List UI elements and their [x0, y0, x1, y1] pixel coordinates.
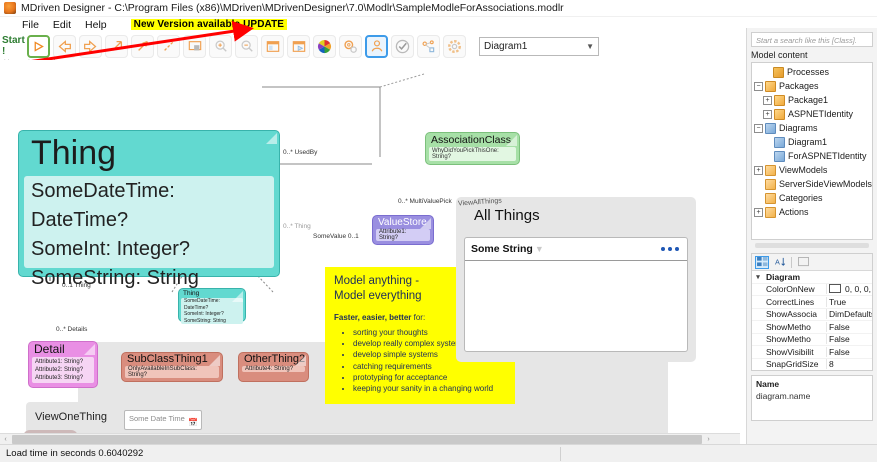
window-export-icon [292, 40, 306, 53]
property-key: ShowAssocia [764, 309, 826, 319]
color-wheel-button[interactable] [313, 35, 336, 58]
dot [675, 247, 679, 251]
property-key: SnapGridSize [764, 359, 826, 369]
zoom-out-button[interactable] [235, 35, 258, 58]
dot [661, 247, 665, 251]
run-play-icon [32, 40, 45, 53]
property-value[interactable]: True [826, 297, 872, 307]
fold-corner-icon [209, 355, 220, 366]
tree-item-label: Diagram1 [788, 137, 827, 147]
diagram-icon [765, 123, 776, 134]
alphabetical-sort-button[interactable]: A [773, 256, 787, 269]
edge-label-thing-assoc: 0..* Thing [283, 223, 311, 230]
window-button[interactable] [261, 35, 284, 58]
class-node-subclassthing1[interactable]: SubClassThing1 OnlyAvailableInSubClass: … [121, 352, 223, 382]
viewmodel-icon [765, 193, 776, 204]
viewmodel-icon [765, 207, 776, 218]
tree-item-serversideviewmodels[interactable]: ServerSideViewModels [752, 177, 872, 191]
categorized-view-button[interactable] [755, 256, 769, 269]
property-row-showmethods-2[interactable]: ShowMetho False [752, 334, 872, 347]
class-node-subclassthing1-attributes: OnlyAvailableInSubClass: String? [125, 366, 219, 378]
property-value[interactable]: 8 [826, 359, 872, 369]
sticky-bullet: catching requirements [353, 361, 515, 372]
expander-icon[interactable]: + [763, 96, 772, 105]
arrow-up-right-alt-icon [136, 39, 150, 53]
title-bar: MDriven Designer - C:\Program Files (x86… [0, 0, 877, 17]
class-node-detail-attributes: Attribute1: String? Attribute2: String? … [32, 357, 94, 383]
settings-gear-icon [447, 39, 462, 54]
attribute: Attribute2: String? [35, 366, 91, 374]
scroll-left-icon[interactable]: ‹ [0, 436, 11, 443]
arrow-left-button[interactable] [53, 35, 76, 58]
attribute: OnlyAvailableInSubClass: String? [128, 366, 216, 378]
tree-item-label: Diagrams [779, 123, 818, 133]
model-content-tree[interactable]: Processes − Packages + Package1 + ASPNET… [751, 62, 873, 240]
property-key: ShowVisibilit [764, 347, 826, 357]
zoom-out-icon [240, 39, 254, 53]
edge-label-somevalue: SomeValue 0..1 [313, 233, 359, 240]
tree-item-label: Categories [779, 193, 823, 203]
sticky-bullet: prototyping for acceptance [353, 372, 515, 383]
diagram-icon [774, 151, 785, 162]
attribute: Attribute3: String? [35, 374, 91, 382]
tree-horizontal-scrollbar[interactable] [755, 243, 869, 248]
expander-icon[interactable]: − [754, 82, 763, 91]
property-pages-button[interactable] [796, 256, 810, 269]
diagonal-line-icon [162, 39, 176, 53]
graph-nodes-icon [421, 39, 436, 54]
property-row-coloronnew[interactable]: ColorOnNew 0, 0, 0, 0 [752, 284, 872, 297]
fold-corner-icon [232, 291, 243, 302]
arrow-right-icon [83, 40, 98, 53]
tree-item-forapsnetidentity[interactable]: ForASPNETIdentity [752, 149, 872, 163]
package-icon [765, 81, 776, 92]
arrow-left-icon [57, 40, 72, 53]
attribute: WhyDidYouPickThisOne: String? [432, 148, 513, 160]
grid-overflow-menu[interactable] [661, 247, 679, 251]
arrow-up-right-button[interactable] [105, 35, 128, 58]
field-label: Some Date Time [129, 414, 185, 423]
view-all-things[interactable]: ViewAllThings All Things Some String ▼ [456, 197, 696, 362]
tree-item-packages[interactable]: − Packages [752, 79, 872, 93]
menu-item-edit[interactable]: Edit [53, 19, 71, 31]
property-value-text: 0, 0, 0, 0 [845, 284, 872, 294]
expander-icon[interactable]: − [754, 124, 763, 133]
sort-az-icon: A [775, 257, 786, 267]
property-key: ShowMetho [764, 322, 826, 332]
graph-nodes-button[interactable] [417, 35, 440, 58]
scroll-right-icon[interactable]: › [703, 436, 714, 443]
diagonal-line-button[interactable] [157, 35, 180, 58]
class-node-subclassthing1-title: SubClassThing1 [122, 353, 222, 365]
tree-item-label: ServerSideViewModels [779, 179, 872, 189]
package-icon [774, 109, 785, 120]
window-export-button[interactable] [287, 35, 310, 58]
fold-corner-icon [420, 218, 431, 229]
diagram-icon [774, 137, 785, 148]
edge-label-details: 0..* Details [56, 326, 87, 333]
property-description-title: Name [756, 379, 868, 389]
class-node-valuestore-attributes: Attribute1: String? [376, 229, 430, 241]
diagram-selector-value: Diagram1 [484, 41, 586, 52]
person-icon [370, 39, 384, 53]
viewmodel-icon [765, 165, 776, 176]
diagram-canvas[interactable]: 0..* UsedBy 0..* MultiValuePick 0..* Thi… [0, 60, 740, 444]
property-row-correctlines[interactable]: CorrectLines True [752, 296, 872, 309]
fold-corner-icon [506, 135, 517, 146]
sticky-subtitle-bold: Faster, easier, better [334, 313, 411, 322]
class-node-otherthing2[interactable]: OtherThing2 Attribute4: String? [238, 352, 309, 382]
property-key: CorrectLines [764, 297, 826, 307]
category-label: Diagram [764, 272, 826, 282]
gears-icon [343, 39, 358, 54]
run-play-button[interactable] [27, 35, 50, 58]
search-input[interactable]: Start a search like this [Class].[Member… [751, 32, 873, 47]
menu-item-file[interactable]: File [22, 19, 39, 31]
tree-item-processes[interactable]: Processes [752, 65, 872, 79]
settings-gear-button[interactable] [443, 35, 466, 58]
column-header-some-string: Some String [471, 243, 533, 255]
categorized-icon [757, 257, 768, 267]
class-node-thing[interactable]: Thing SomeDateTime: DateTime? SomeInt: I… [18, 130, 280, 277]
expander-icon[interactable]: + [763, 110, 772, 119]
property-grid-toolbar: A [752, 254, 872, 271]
tree-item-package1[interactable]: + Package1 [752, 93, 872, 107]
app-icon [4, 2, 16, 14]
property-row-showvisibility[interactable]: ShowVisibilit False [752, 346, 872, 359]
toolbar-separator [791, 257, 792, 268]
property-row-showassociations[interactable]: ShowAssocia DimDefaults [752, 309, 872, 322]
property-value[interactable]: False [826, 322, 872, 332]
scrollbar-thumb[interactable] [12, 435, 702, 444]
edge-label-multivaluepick: 0..* MultiValuePick [398, 198, 452, 205]
expander-icon[interactable]: + [754, 208, 763, 217]
person-button[interactable] [365, 35, 388, 58]
color-swatch[interactable] [829, 284, 841, 293]
attribute: Attribute4: String? [245, 366, 302, 372]
tree-item-label: Actions [779, 207, 809, 217]
screen-share-icon [188, 40, 202, 53]
attribute: SomeString: String [184, 318, 240, 325]
property-row-showmethods-1[interactable]: ShowMetho False [752, 321, 872, 334]
arrow-up-right-icon [110, 39, 124, 53]
class-node-valuestore[interactable]: ValueStore Attribute1: String? [372, 215, 434, 245]
property-description: Name diagram.name [751, 375, 873, 421]
status-bar: Load time in seconds 0.6040292 [0, 444, 877, 462]
right-panel: Start a search like this [Class].[Member… [746, 28, 877, 444]
menu-item-help[interactable]: Help [85, 19, 107, 31]
attribute: Attribute1: String? [35, 358, 91, 366]
model-content-label: Model content [747, 49, 877, 62]
attribute: SomeInt: Integer? [31, 235, 267, 264]
start-label: Start ! [2, 35, 24, 57]
zoom-in-icon [214, 39, 228, 53]
check-circle-button[interactable] [391, 35, 414, 58]
all-things-grid-header[interactable]: Some String ▼ [465, 238, 687, 261]
tree-item-label: ViewModels [779, 165, 827, 175]
property-value[interactable]: 0, 0, 0, 0 [826, 284, 872, 294]
tree-item-actions[interactable]: + Actions [752, 205, 872, 219]
edge-label-usedby: 0..* UsedBy [283, 149, 317, 156]
filter-funnel-icon[interactable]: ▼ [535, 244, 544, 254]
property-value[interactable]: False [826, 334, 872, 344]
tree-item-label: Packages [779, 81, 819, 91]
property-row-snapgridsize[interactable]: SnapGridSize 8 [752, 359, 872, 372]
workspace: 0..* UsedBy 0..* MultiValuePick 0..* Thi… [0, 60, 877, 444]
property-description-text: diagram.name [756, 391, 868, 401]
property-grid[interactable]: A ▾ Diagram ColorOnNew 0, 0, 0, 0 Correc… [751, 253, 873, 371]
tree-item-aspnetidentity[interactable]: + ASPNETIdentity [752, 107, 872, 121]
tree-item-label: Package1 [788, 95, 828, 105]
class-node-detail[interactable]: Detail Attribute1: String? Attribute2: S… [28, 341, 98, 388]
processes-icon [773, 67, 784, 78]
fold-corner-icon [266, 133, 277, 144]
expander-icon[interactable] [762, 68, 771, 77]
canvas-horizontal-scrollbar[interactable]: ‹ › [0, 433, 740, 444]
zoom-in-button[interactable] [209, 35, 232, 58]
tree-item-label: ForASPNETIdentity [788, 151, 867, 161]
diagram-selector[interactable]: Diagram1 ▼ [479, 37, 599, 56]
sticky-bullet: keeping your sanity in a changing world [353, 383, 515, 394]
attribute: SomeDateTime: DateTime? [31, 177, 267, 235]
property-pages-icon [798, 257, 809, 267]
property-key: ColorOnNew [764, 284, 826, 294]
class-node-thing-small[interactable]: Thing SomeDateTime: DateTime? SomeInt: I… [178, 288, 246, 322]
tree-item-label: Processes [787, 67, 829, 77]
chevron-down-icon: ▼ [586, 42, 594, 51]
package-icon [774, 95, 785, 106]
update-badge[interactable]: New Version available UPDATE [131, 19, 287, 30]
property-value[interactable]: DimDefaults [826, 309, 872, 319]
field-some-date-time[interactable]: Some Date Time 📅 [124, 410, 202, 430]
class-node-thing-title: Thing [19, 131, 279, 173]
window-title: MDriven Designer - C:\Program Files (x86… [21, 2, 564, 14]
window-icon [266, 40, 280, 53]
class-node-associationclass[interactable]: AssociationClass WhyDidYouPickThisOne: S… [425, 132, 520, 165]
check-circle-icon [395, 39, 410, 54]
class-node-thing-attributes: SomeDateTime: DateTime? SomeInt: Integer… [24, 176, 274, 268]
color-wheel-icon [317, 39, 332, 54]
all-things-grid[interactable]: Some String ▼ [464, 237, 688, 352]
class-node-otherthing2-attributes: Attribute4: String? [242, 366, 305, 372]
property-key: ShowMetho [764, 334, 826, 344]
calendar-icon[interactable]: 📅 [188, 418, 198, 427]
tree-item-diagram1[interactable]: Diagram1 [752, 135, 872, 149]
gears-button[interactable] [339, 35, 362, 58]
screen-share-button[interactable] [183, 35, 206, 58]
svg-text:A: A [775, 257, 780, 266]
status-separator [560, 447, 561, 461]
tree-item-categories[interactable]: Categories [752, 191, 872, 205]
property-value[interactable]: False [826, 347, 872, 357]
tree-item-label: ASPNETIdentity [788, 109, 853, 119]
arrow-up-right-alt-button[interactable] [131, 35, 154, 58]
status-text: Load time in seconds 0.6040292 [6, 448, 143, 459]
sticky-subtitle-rest: for: [411, 313, 425, 322]
tree-item-diagrams[interactable]: − Diagrams [752, 121, 872, 135]
viewmodel-icon [765, 179, 776, 190]
tree-item-viewmodels[interactable]: + ViewModels [752, 163, 872, 177]
chevron-down-icon[interactable]: ▾ [752, 273, 764, 281]
property-category-diagram[interactable]: ▾ Diagram [752, 271, 872, 284]
dot [668, 247, 672, 251]
class-node-associationclass-attributes: WhyDidYouPickThisOne: String? [429, 147, 516, 161]
expander-icon[interactable]: + [754, 166, 763, 175]
fold-corner-icon [84, 344, 95, 355]
fold-corner-icon [295, 355, 306, 366]
arrow-right-button[interactable] [79, 35, 102, 58]
attribute: Attribute1: String? [379, 229, 427, 241]
